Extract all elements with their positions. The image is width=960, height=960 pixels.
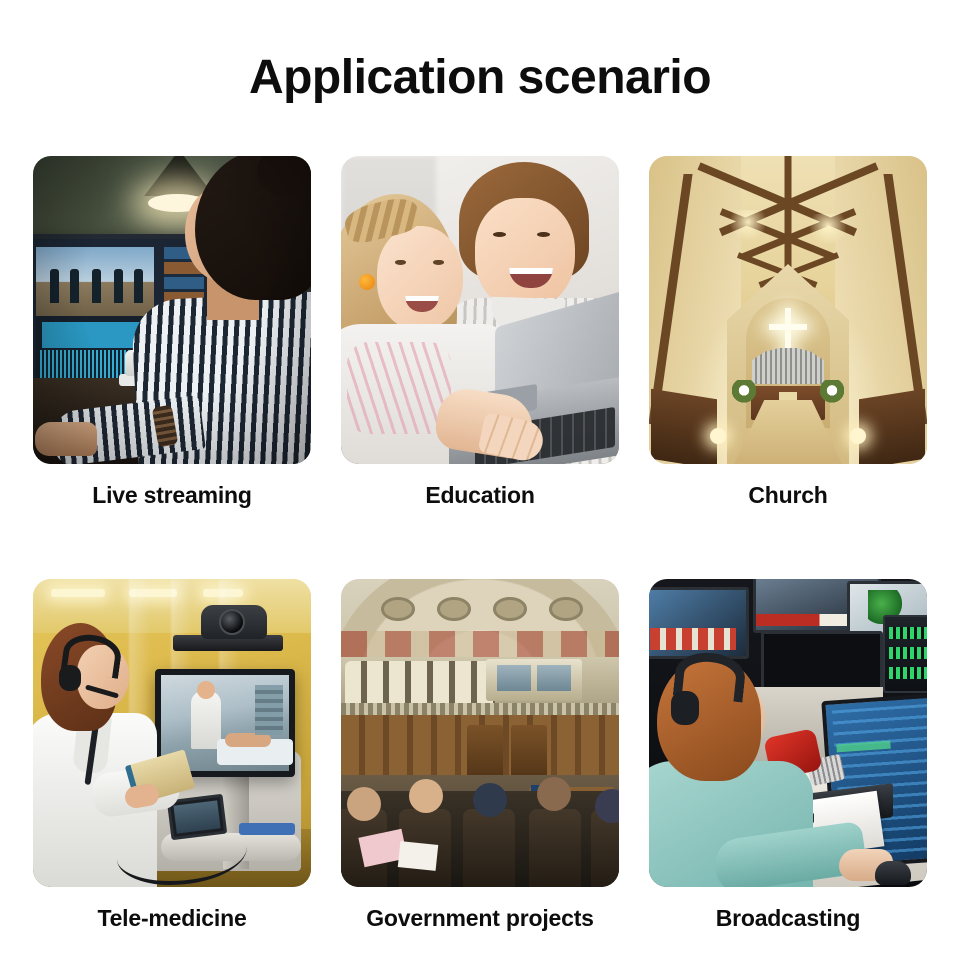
scenario-label-education: Education bbox=[341, 482, 619, 509]
scenario-image-education[interactable] bbox=[341, 156, 619, 464]
application-scenario-page: Application scenario bbox=[0, 0, 960, 960]
scenario-card-church[interactable]: Church bbox=[649, 156, 927, 509]
scenario-image-church[interactable] bbox=[649, 156, 927, 464]
scenario-image-tele-medicine[interactable] bbox=[33, 579, 311, 887]
scenario-grid: Live streaming bbox=[33, 156, 927, 932]
scenario-card-government-projects[interactable]: Government projects bbox=[341, 579, 619, 932]
scenario-label-church: Church bbox=[649, 482, 927, 509]
scenario-image-live-streaming[interactable] bbox=[33, 156, 311, 464]
scenario-label-broadcasting: Broadcasting bbox=[649, 905, 927, 932]
scenario-image-government-projects[interactable] bbox=[341, 579, 619, 887]
scenario-card-broadcasting[interactable]: Broadcasting bbox=[649, 579, 927, 932]
scenario-card-tele-medicine[interactable]: Tele-medicine bbox=[33, 579, 311, 932]
scenario-label-live-streaming: Live streaming bbox=[33, 482, 311, 509]
scenario-label-government-projects: Government projects bbox=[341, 905, 619, 932]
page-title: Application scenario bbox=[0, 52, 960, 105]
scenario-image-broadcasting[interactable] bbox=[649, 579, 927, 887]
scenario-card-live-streaming[interactable]: Live streaming bbox=[33, 156, 311, 509]
scenario-card-education[interactable]: Education bbox=[341, 156, 619, 509]
scenario-label-tele-medicine: Tele-medicine bbox=[33, 905, 311, 932]
